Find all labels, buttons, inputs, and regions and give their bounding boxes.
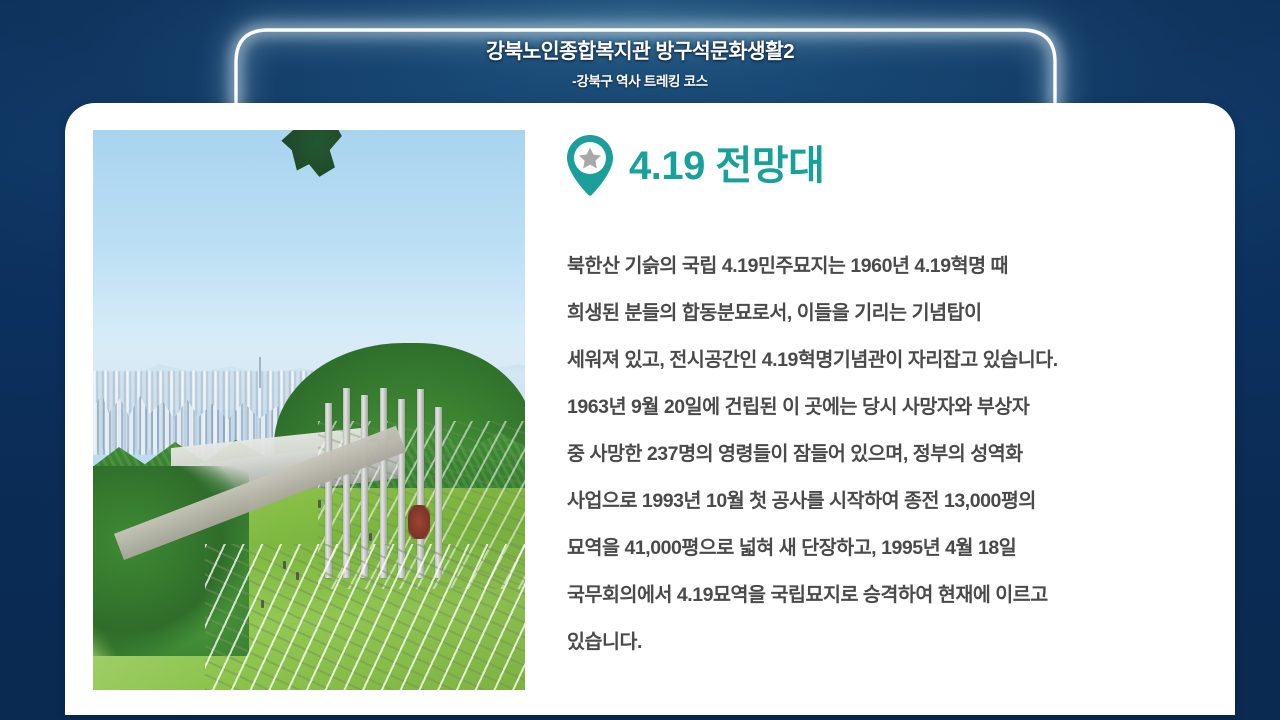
description-line: 세워져 있고, 전시공간인 4.19혁명기념관이 자리잡고 있습니다. — [567, 337, 1235, 384]
place-title-row: 4.19 전망대 — [565, 133, 824, 199]
header-block: 강북노인종합복지관 방구석문화생활2 -강북구 역사 트레킹 코스 — [240, 40, 1040, 90]
slide-canvas: 강북노인종합복지관 방구석문화생활2 -강북구 역사 트레킹 코스 — [0, 0, 1280, 720]
description-line: 중 사망한 237명의 영령들이 잠들어 있으며, 정부의 성역화 — [567, 431, 1235, 478]
header-subtitle: -강북구 역사 트레킹 코스 — [240, 70, 1040, 90]
description-line: 희생된 분들의 합동분묘로서, 이들을 기리는 기념탑이 — [567, 290, 1235, 337]
place-title: 4.19 전망대 — [629, 146, 824, 186]
photo-visitors — [93, 130, 525, 690]
text-column: 4.19 전망대 북한산 기슭의 국립 4.19민주묘지는 1960년 4.19… — [557, 103, 1229, 715]
header-title: 강북노인종합복지관 방구석문화생활2 — [240, 40, 1040, 64]
cemetery-photo — [93, 130, 525, 690]
content-card: 4.19 전망대 북한산 기슭의 국립 4.19민주묘지는 1960년 4.19… — [65, 103, 1235, 715]
place-description: 북한산 기슭의 국립 4.19민주묘지는 1960년 4.19혁명 때 희생된 … — [567, 243, 1235, 666]
map-pin-star-icon — [565, 133, 615, 199]
description-line: 북한산 기슭의 국립 4.19민주묘지는 1960년 4.19혁명 때 — [567, 243, 1235, 290]
description-line: 묘역을 41,000평으로 넓혀 새 단장하고, 1995년 4월 18일 — [567, 525, 1235, 572]
description-line: 국무회의에서 4.19묘역을 국립묘지로 승격하여 현재에 이르고 — [567, 572, 1235, 619]
description-line: 1963년 9월 20일에 건립된 이 곳에는 당시 사망자와 부상자 — [567, 384, 1235, 431]
description-line: 사업으로 1993년 10월 첫 공사를 시작하여 종전 13,000평의 — [567, 478, 1235, 525]
description-line: 있습니다. — [567, 619, 1235, 666]
